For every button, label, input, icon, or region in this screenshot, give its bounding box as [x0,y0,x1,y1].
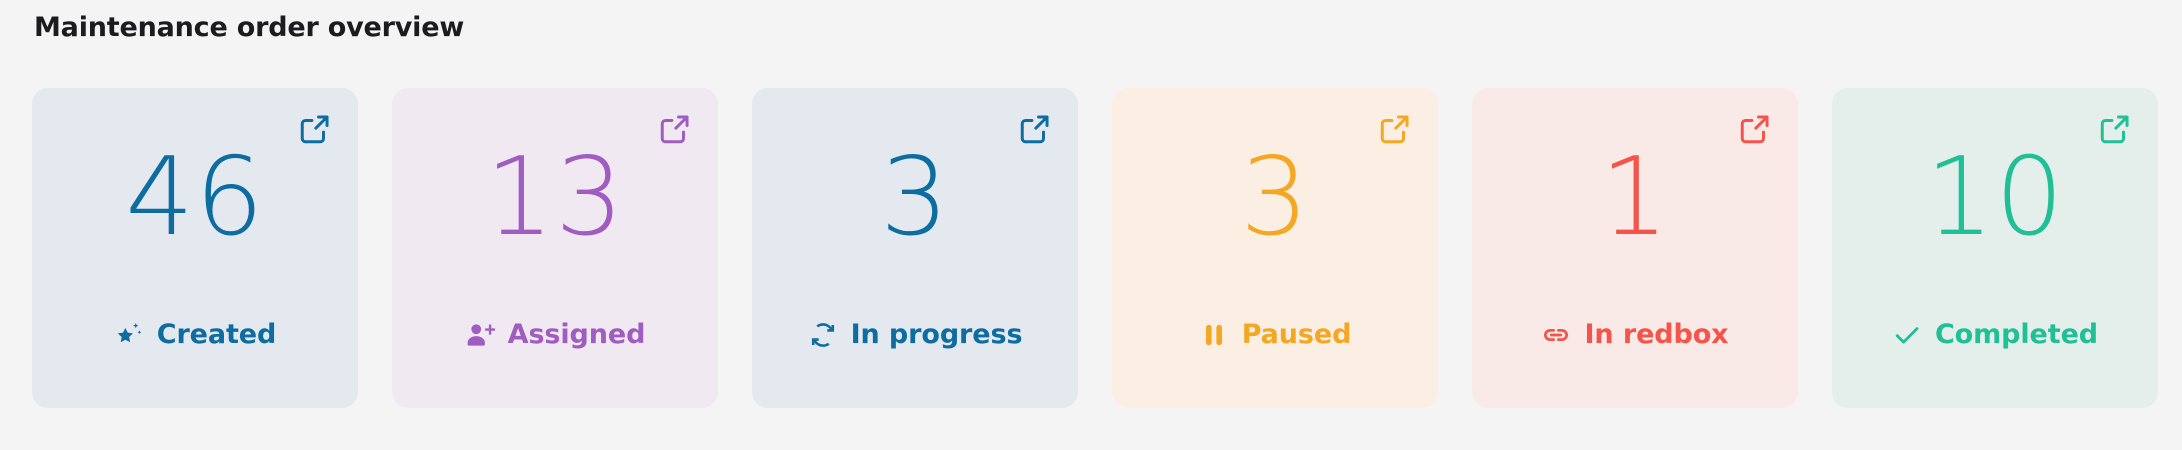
link-chain-icon [1541,320,1571,350]
check-icon [1892,320,1922,350]
stat-value: 1 [1472,136,1798,260]
stat-footer: Created [32,319,358,350]
stat-value: 3 [1112,136,1438,260]
stat-label: Completed [1935,319,2098,350]
stat-footer: Paused [1112,319,1438,350]
stat-label: In redbox [1584,319,1728,350]
stat-card[interactable]: 1In redbox [1472,88,1798,408]
stat-label: In progress [851,319,1023,350]
stat-footer: In redbox [1472,319,1798,350]
stat-value: 13 [392,136,718,260]
stat-card[interactable]: 3Paused [1112,88,1438,408]
stat-value: 10 [1832,136,2158,260]
sparkle-star-icon [114,320,144,350]
stat-card[interactable]: 46Created [32,88,358,408]
stat-card[interactable]: 13Assigned [392,88,718,408]
stat-card[interactable]: 3In progress [752,88,1078,408]
stat-value: 46 [32,136,358,260]
person-plus-icon [465,320,495,350]
stat-footer: In progress [752,319,1078,350]
pause-icon [1199,320,1229,350]
maintenance-order-overview-page: Maintenance order overview 46Created13As… [0,0,2182,450]
page-title: Maintenance order overview [34,8,464,48]
stat-label: Created [157,319,277,350]
stat-value: 3 [752,136,1078,260]
stat-footer: Assigned [392,319,718,350]
stat-card[interactable]: 10Completed [1832,88,2158,408]
sync-refresh-icon [808,320,838,350]
stat-label: Paused [1242,319,1352,350]
stat-card-list: 46Created13Assigned3In progress3Paused1I… [32,88,2158,408]
stat-label: Assigned [508,319,646,350]
stat-footer: Completed [1832,319,2158,350]
